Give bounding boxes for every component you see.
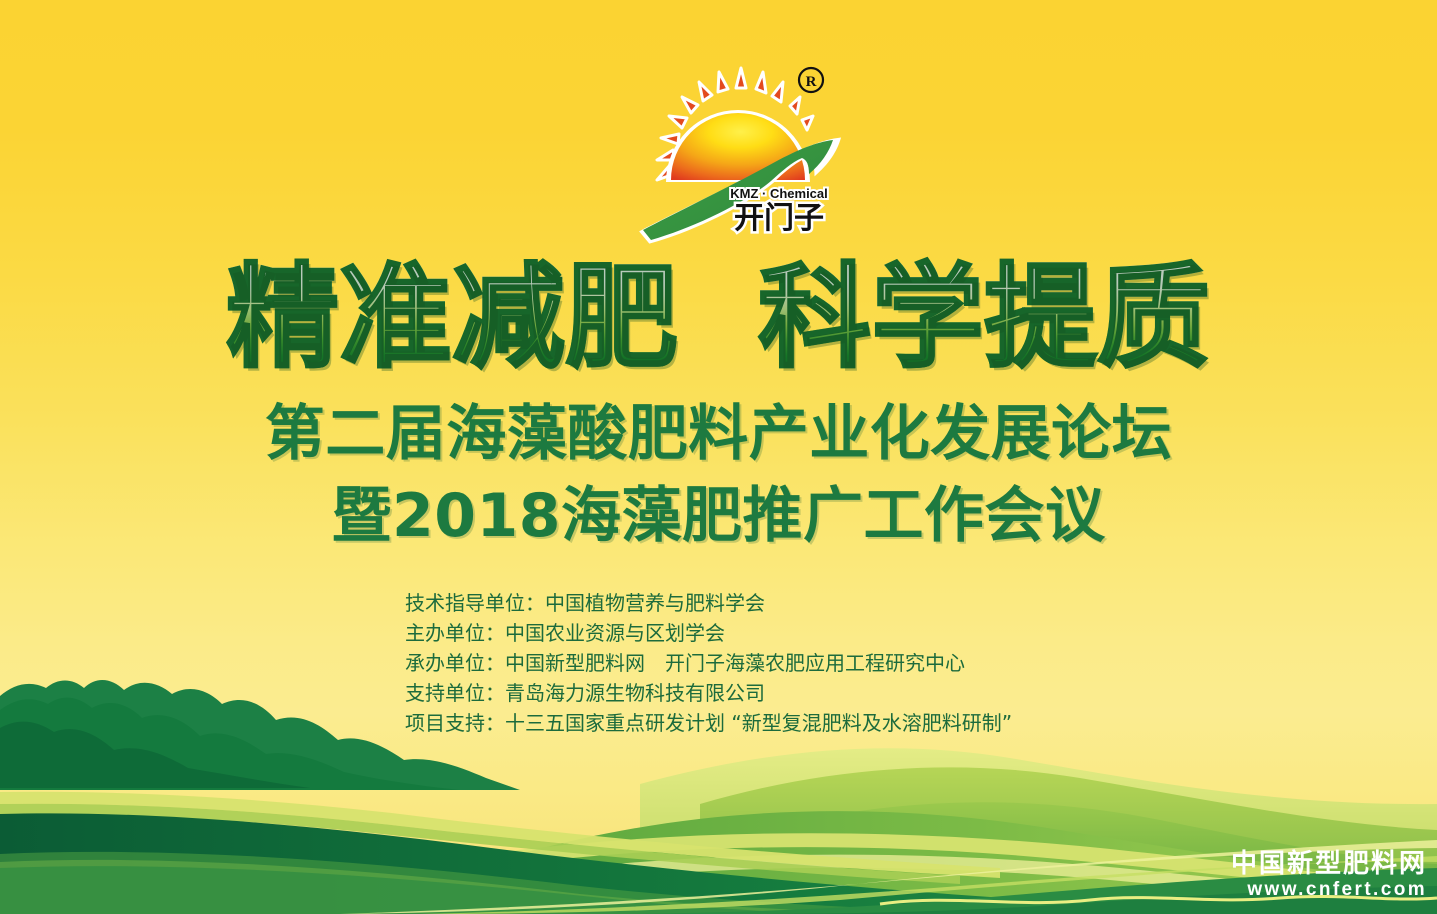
brand-text: KMZ · Chemical 开门子 [730,186,828,236]
brand-cn-text: 开门子 [734,201,824,236]
watermark-site-url: www.cnfert.com [1231,880,1427,900]
detail-line-supporter: 支持单位：青岛海力源生物科技有限公司 [405,678,1305,708]
kaimenzi-logo-icon: KMZ · Chemical 开门子 R [633,62,853,247]
detail-line-host: 主办单位：中国农业资源与区划学会 [405,618,1305,648]
brand-logo: KMZ · Chemical 开门子 R [633,62,853,247]
subtitle-line-2: 暨2018海藻肥推广工作会议 [0,486,1437,546]
organizer-details: 技术指导单位：中国植物营养与肥料学会 主办单位：中国农业资源与区划学会 承办单位… [405,588,1305,738]
detail-line-organizer: 承办单位：中国新型肥料网 开门子海藻农肥应用工程研究中心 [405,648,1305,678]
page-title: 精准减肥 科学提质 [0,262,1437,374]
brand-latin-text: KMZ · Chemical [730,186,828,201]
svg-text:R: R [806,74,817,90]
detail-line-project-support: 项目支持：十三五国家重点研发计划 “新型复混肥料及水溶肥料研制” [405,708,1305,738]
detail-line-technical-guidance: 技术指导单位：中国植物营养与肥料学会 [405,588,1305,618]
trademark-icon: R [799,68,823,92]
site-watermark: 中国新型肥料网 www.cnfert.com [1231,851,1427,900]
watermark-site-name: 中国新型肥料网 [1231,851,1427,878]
subtitle-line-1: 第二届海藻酸肥料产业化发展论坛 [0,404,1437,464]
conference-poster: KMZ · Chemical 开门子 R 精准减肥 科学提质 第二届海藻酸肥料产… [0,0,1437,914]
